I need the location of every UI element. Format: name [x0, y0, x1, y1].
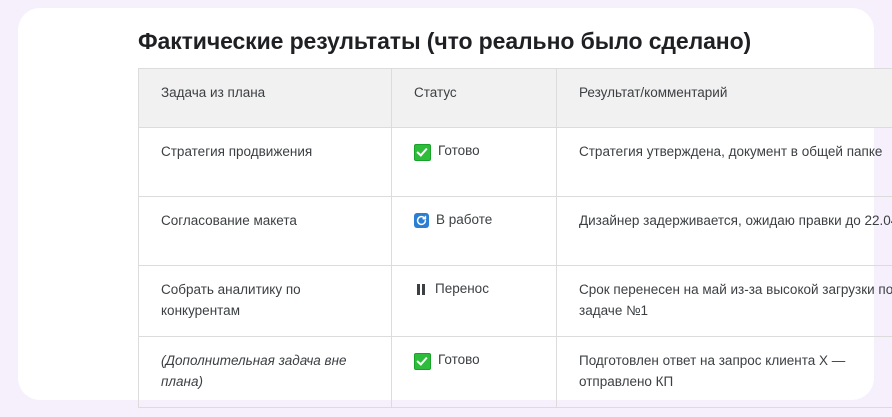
column-header-result: Результат/комментарий — [557, 69, 892, 128]
results-table: Задача из плана Статус Результат/коммент… — [138, 68, 892, 408]
cell-task: (Дополнительная задача вне плана) — [139, 336, 392, 407]
status-label: Готово — [438, 351, 480, 370]
cell-result: Подготовлен ответ на запрос клиента X — … — [557, 336, 892, 407]
table-row: Согласование макета В работе Дизайнер за… — [139, 197, 892, 266]
table-body: Стратегия продвижения Готово Стратегия у… — [139, 128, 892, 408]
document-card: Фактические результаты (что реально было… — [18, 8, 874, 400]
refresh-arrows-icon — [414, 213, 429, 228]
cell-result: Срок перенесен на май из-за высокой загр… — [557, 266, 892, 337]
cell-task: Собрать аналитику по конкурентам — [139, 266, 392, 337]
cell-status: В работе — [392, 197, 557, 266]
cell-task: Согласование макета — [139, 197, 392, 266]
table-row: (Дополнительная задача вне плана) Готово… — [139, 336, 892, 407]
check-mark-button-icon — [414, 353, 431, 370]
status-label: Перенос — [435, 280, 489, 299]
cell-result: Стратегия утверждена, документ в общей п… — [557, 128, 892, 197]
table-row: Стратегия продвижения Готово Стратегия у… — [139, 128, 892, 197]
check-mark-button-icon — [414, 144, 431, 161]
status-label: В работе — [436, 211, 492, 230]
cell-status: Готово — [392, 128, 557, 197]
cell-result: Дизайнер задерживается, ожидаю правки до… — [557, 197, 892, 266]
pause-icon — [416, 282, 427, 297]
cell-task: Стратегия продвижения — [139, 128, 392, 197]
status-label: Готово — [438, 142, 480, 161]
table-header: Задача из плана Статус Результат/коммент… — [139, 69, 892, 128]
column-header-task: Задача из плана — [139, 69, 392, 128]
column-header-status: Статус — [392, 69, 557, 128]
cell-status: Перенос — [392, 266, 557, 337]
table-row: Собрать аналитику по конкурентам Перенос… — [139, 266, 892, 337]
cell-status: Готово — [392, 336, 557, 407]
page-title: Фактические результаты (что реально было… — [138, 28, 751, 55]
table-header-row: Задача из плана Статус Результат/коммент… — [139, 69, 892, 128]
